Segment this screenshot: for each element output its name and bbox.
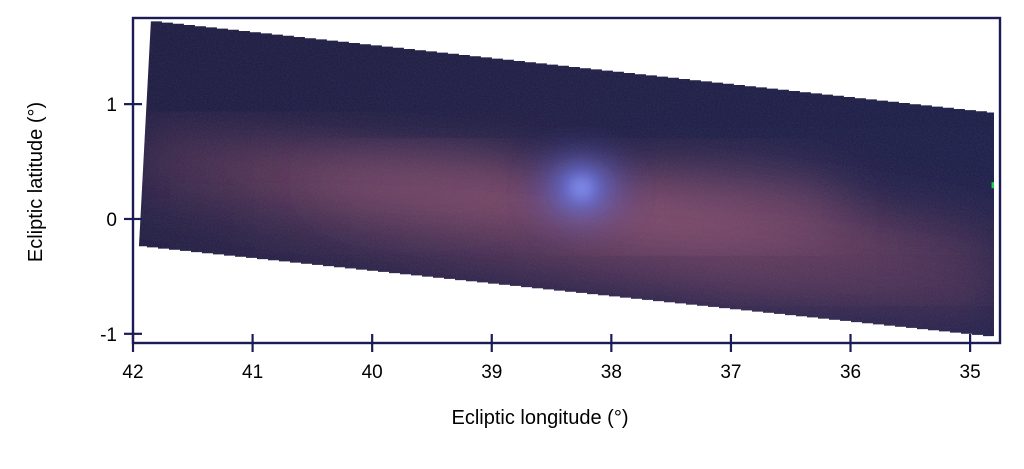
scan-swath-plot: 4241403938373635 10-1 Ecliptic longitude…: [0, 0, 1024, 469]
bright-blue-point-source: [519, 136, 643, 240]
y-tick-label: -1: [100, 325, 117, 346]
x-tick-label: 38: [601, 362, 622, 383]
x-tick-label: 39: [481, 362, 502, 383]
y-axis-label: Ecliptic latitude (°): [25, 102, 47, 262]
figure-canvas: 4241403938373635 10-1 Ecliptic longitude…: [0, 0, 1024, 469]
y-tick-label: 0: [106, 210, 117, 231]
y-tick-label: 1: [106, 95, 117, 116]
x-tick-label: 41: [242, 362, 263, 383]
x-axis-label: Ecliptic longitude (°): [452, 407, 629, 429]
x-tick-label: 37: [720, 362, 741, 383]
x-tick-label: 40: [362, 362, 383, 383]
x-tick-label: 36: [840, 362, 861, 383]
x-tick-label: 42: [122, 362, 143, 383]
x-tick-label: 35: [960, 362, 981, 383]
